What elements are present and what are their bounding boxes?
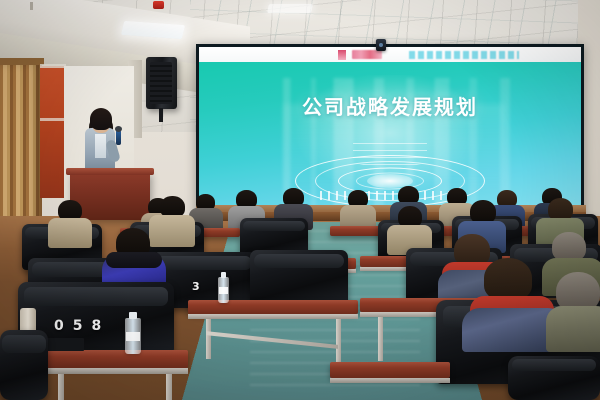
company-logo-mark-icon xyxy=(338,50,346,60)
water-bottle-row3[interactable] xyxy=(218,277,229,303)
curtain-rail xyxy=(0,58,44,65)
presenter-shirt xyxy=(95,134,106,158)
conference-room-photo: 公司战略发展规划 xyxy=(0,0,600,400)
screen-surface: 公司战略发展规划 xyxy=(199,47,581,219)
orange-wall-panel xyxy=(40,66,66,198)
window-curtain xyxy=(0,62,42,232)
ceiling-light-secondary-icon xyxy=(267,4,313,13)
desk-foreground-left xyxy=(38,350,188,368)
slide-title: 公司战略发展规划 xyxy=(199,91,581,120)
slide-header-band xyxy=(199,47,581,62)
chair-number-058: 058 xyxy=(54,318,110,334)
water-bottle-foreground[interactable] xyxy=(125,318,141,354)
sprinkler-icon xyxy=(30,2,33,10)
desk-leg-3 xyxy=(206,319,211,359)
wall-trim-lower xyxy=(40,118,66,121)
chair-row3-c[interactable] xyxy=(250,250,348,304)
chair-foreground-bottom-right[interactable] xyxy=(508,356,600,400)
chair-foreground-edge[interactable] xyxy=(0,330,48,400)
microphone-icon xyxy=(116,130,121,145)
desk-leg-7 xyxy=(166,374,172,400)
hud-tick-marks xyxy=(320,191,460,200)
chair-number-3: 3 xyxy=(192,280,200,293)
desk-leg-6 xyxy=(58,374,64,400)
company-logo-icon xyxy=(352,50,382,59)
podium xyxy=(70,172,150,220)
podium-top xyxy=(66,168,154,175)
desk-leg-5 xyxy=(378,317,383,361)
desk-row3-center xyxy=(188,300,358,314)
desk-row3-center-edge xyxy=(188,314,358,319)
wall-trim-upper xyxy=(40,64,66,68)
screen-camera-icon xyxy=(376,39,386,51)
company-name-text xyxy=(409,51,519,59)
desk-foreground-right-edge xyxy=(330,378,450,383)
fire-alarm-icon xyxy=(153,1,164,9)
wall-speaker-icon xyxy=(146,57,177,109)
presenter-hair xyxy=(90,108,112,130)
desk-leg-4 xyxy=(336,319,341,365)
speaker-mount xyxy=(159,108,163,122)
desk-foreground-right xyxy=(330,362,450,378)
